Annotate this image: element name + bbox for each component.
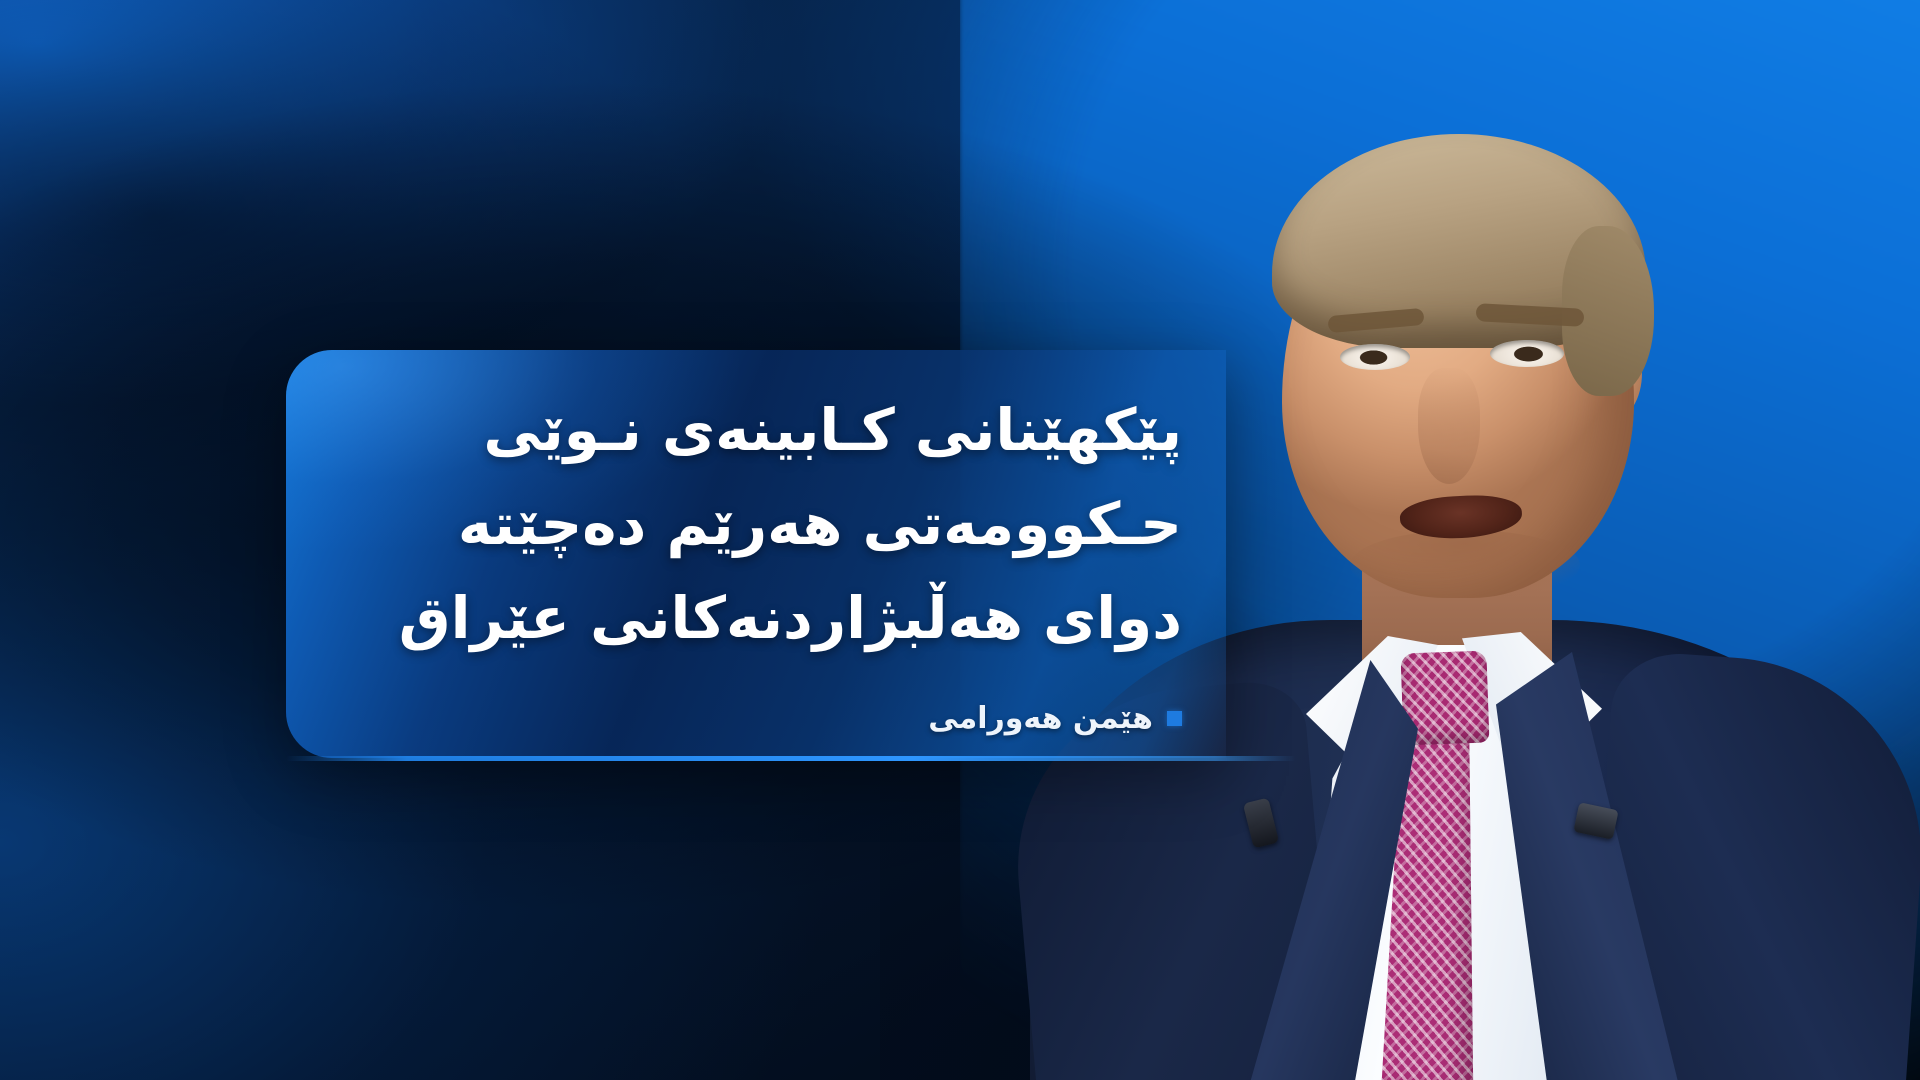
nose	[1418, 368, 1480, 484]
byline-reporter-name: هێمن هەورامی	[928, 701, 1153, 736]
card-accent-underline	[286, 756, 1296, 761]
eye-left	[1340, 344, 1410, 370]
headline-text: پێکهێنانی کـابینەی نـوێی حـکوومەتی هەرێم…	[382, 384, 1182, 666]
eye-right	[1490, 340, 1564, 367]
chin-shadow	[1350, 530, 1580, 600]
headline-card: پێکهێنانی کـابینەی نـوێی حـکوومەتی هەرێم…	[286, 350, 1226, 758]
square-bullet-icon	[1167, 711, 1182, 726]
byline: هێمن هەورامی	[928, 701, 1182, 736]
news-graphic-stage: پێکهێنانی کـابینەی نـوێی حـکوومەتی هەرێم…	[0, 0, 1920, 1080]
